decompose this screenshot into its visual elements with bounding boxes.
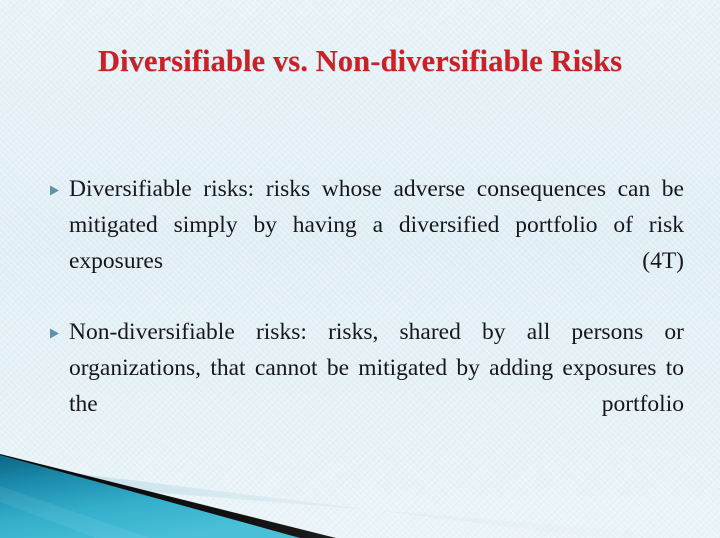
list-item: Non-diversifiable risks: risks, shared b…	[48, 315, 684, 458]
slide-canvas: Diversifiable vs. Non-diversifiable Risk…	[0, 0, 720, 538]
teal-wedge	[0, 455, 300, 538]
black-accent-sliver	[0, 454, 336, 538]
list-item: Diversifiable risks: risks whose adverse…	[48, 172, 684, 315]
list-item-text: Non-diversifiable risks: risks, shared b…	[69, 315, 684, 458]
teal-sheen	[0, 486, 150, 538]
triangle-right-bullet-icon	[48, 315, 69, 340]
slide-title: Diversifiable vs. Non-diversifiable Risk…	[0, 44, 720, 79]
list-item-text: Diversifiable risks: risks whose adverse…	[69, 172, 684, 315]
triangle-right-bullet-icon	[48, 172, 69, 197]
slide-body: Diversifiable risks: risks whose adverse…	[48, 172, 684, 458]
pale-diagonal-band	[0, 464, 720, 538]
